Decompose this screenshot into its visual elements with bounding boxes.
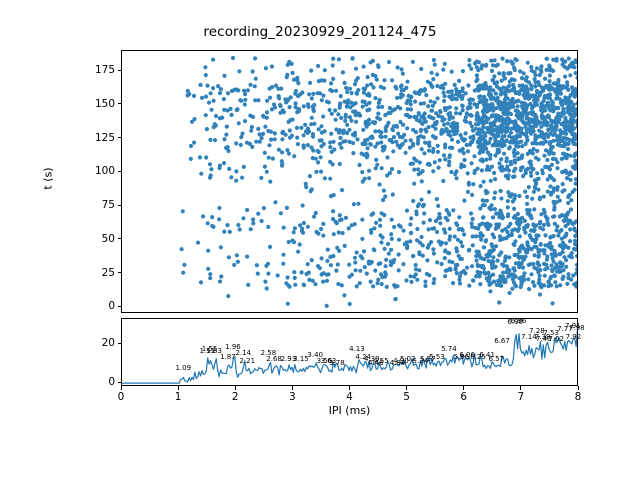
x-tick-mark: [178, 386, 179, 390]
x-tick-label: 6: [450, 391, 478, 403]
y-tick-mark: [118, 306, 122, 307]
y-tick-label: 150: [79, 98, 115, 110]
y-tick-mark: [118, 238, 122, 239]
x-tick-label: 7: [507, 391, 535, 403]
matplotlib-figure: recording_20230929_201124_475 0255075100…: [0, 0, 640, 480]
histogram-x-axis-label: IPI (ms): [121, 404, 578, 417]
y-tick-label: 0: [79, 300, 115, 312]
x-tick-mark: [349, 386, 350, 390]
y-tick-label: 50: [79, 233, 115, 245]
histogram-plot-axes: [121, 318, 578, 386]
y-tick-label: 75: [79, 199, 115, 211]
y-tick-mark: [118, 205, 122, 206]
scatter-points-layer: [122, 51, 577, 312]
y-tick-label: 0: [79, 376, 115, 388]
y-tick-mark: [118, 70, 122, 71]
x-tick-label: 4: [336, 391, 364, 403]
x-tick-mark: [406, 386, 407, 390]
x-tick-label: 3: [278, 391, 306, 403]
x-tick-label: 2: [221, 391, 249, 403]
y-tick-label: 100: [79, 165, 115, 177]
x-tick-mark: [121, 386, 122, 390]
y-tick-mark: [118, 272, 122, 273]
y-tick-mark: [118, 382, 122, 383]
y-tick-mark: [118, 137, 122, 138]
x-tick-mark: [520, 386, 521, 390]
raster-plot-axes: [121, 50, 578, 313]
y-tick-label: 20: [79, 337, 115, 349]
y-tick-label: 125: [79, 132, 115, 144]
raster-y-axis-label: t (s): [42, 119, 55, 239]
y-tick-mark: [118, 343, 122, 344]
y-tick-mark: [118, 171, 122, 172]
y-tick-label: 175: [79, 64, 115, 76]
x-tick-mark: [463, 386, 464, 390]
x-tick-label: 5: [393, 391, 421, 403]
x-tick-label: 8: [564, 391, 592, 403]
x-tick-mark: [292, 386, 293, 390]
histogram-line-layer: [122, 319, 577, 385]
y-tick-label: 25: [79, 267, 115, 279]
y-tick-mark: [118, 103, 122, 104]
x-tick-label: 0: [107, 391, 135, 403]
x-tick-mark: [578, 386, 579, 390]
figure-title: recording_20230929_201124_475: [0, 24, 640, 40]
x-tick-mark: [235, 386, 236, 390]
x-tick-label: 1: [164, 391, 192, 403]
